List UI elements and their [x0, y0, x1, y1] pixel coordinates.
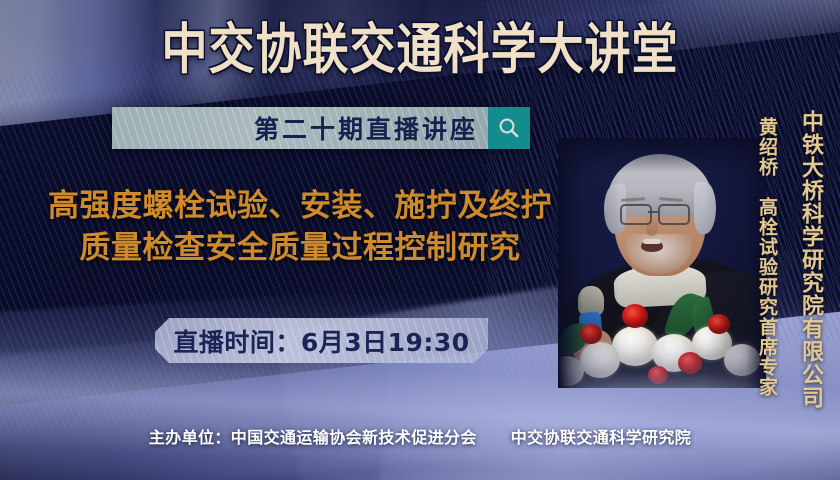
footer-host: 主办单位：中国交通运输协会新技术促进分会	[149, 428, 477, 447]
speaker-name-role: 黄绍桥 高栓试验研究首席专家	[754, 117, 781, 397]
page-title: 中交协联交通科学大讲堂	[0, 22, 840, 76]
search-icon	[497, 116, 521, 140]
session-bar-body: 第二十期直播讲座	[112, 107, 488, 149]
lecture-title-line-1: 高强度螺栓试验、安装、施拧及终拧	[48, 188, 552, 224]
footer-organizers: 主办单位：中国交通运输协会新技术促进分会 中交协联交通科学研究院	[0, 424, 840, 448]
footer-institute: 中交协联交通科学研究院	[511, 428, 691, 447]
speaker-organization: 中铁大桥科学研究院有限公司	[794, 110, 826, 409]
broadcast-time-badge: 直播时间：6月3日19:30	[155, 318, 488, 363]
webinar-poster: 中交协联交通科学大讲堂 第二十期直播讲座 高强度螺栓试验、安装、施拧及终拧 质量…	[0, 0, 840, 480]
search-button[interactable]	[488, 107, 530, 149]
lecture-title: 高强度螺栓试验、安装、施拧及终拧 质量检查安全质量过程控制研究	[0, 186, 600, 269]
session-label: 第二十期直播讲座	[254, 110, 478, 146]
broadcast-time-label: 直播时间：6月3日19:30	[173, 323, 469, 359]
lecture-title-line-2: 质量检查安全质量过程控制研究	[0, 228, 600, 270]
session-bar: 第二十期直播讲座	[112, 107, 530, 149]
